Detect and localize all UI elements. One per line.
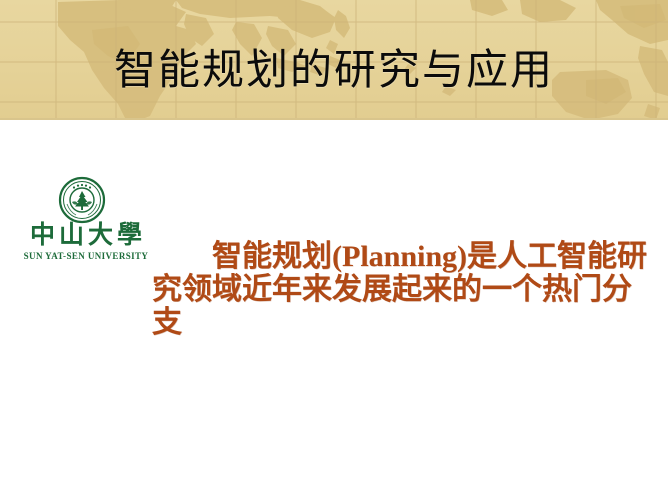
banner-bottom-edge [0,118,668,120]
university-logo: 中山大學 SUN YAT-SEN UNIVERSITY [22,176,150,268]
body-paragraph: 智能规划(Planning)是人工智能研究领域近年来发展起来的一个热门分支 [152,240,652,339]
page-title: 智能规划的研究与应用 [0,42,668,98]
presentation-slide: 智能规划的研究与应用 [0,0,668,502]
body-text-block: 智能规划(Planning)是人工智能研究领域近年来发展起来的一个热门分支 [152,240,652,339]
body-paragraph-prefix: 智能规划 [212,239,332,274]
logo-english-name: SUN YAT-SEN UNIVERSITY [22,251,150,262]
title-banner: 智能规划的研究与应用 [0,0,668,120]
logo-chinese-name: 中山大學 [22,220,150,250]
sun-yat-sen-university-crest-icon [58,176,106,224]
body-paragraph-latin-term: (Planning) [332,240,467,273]
